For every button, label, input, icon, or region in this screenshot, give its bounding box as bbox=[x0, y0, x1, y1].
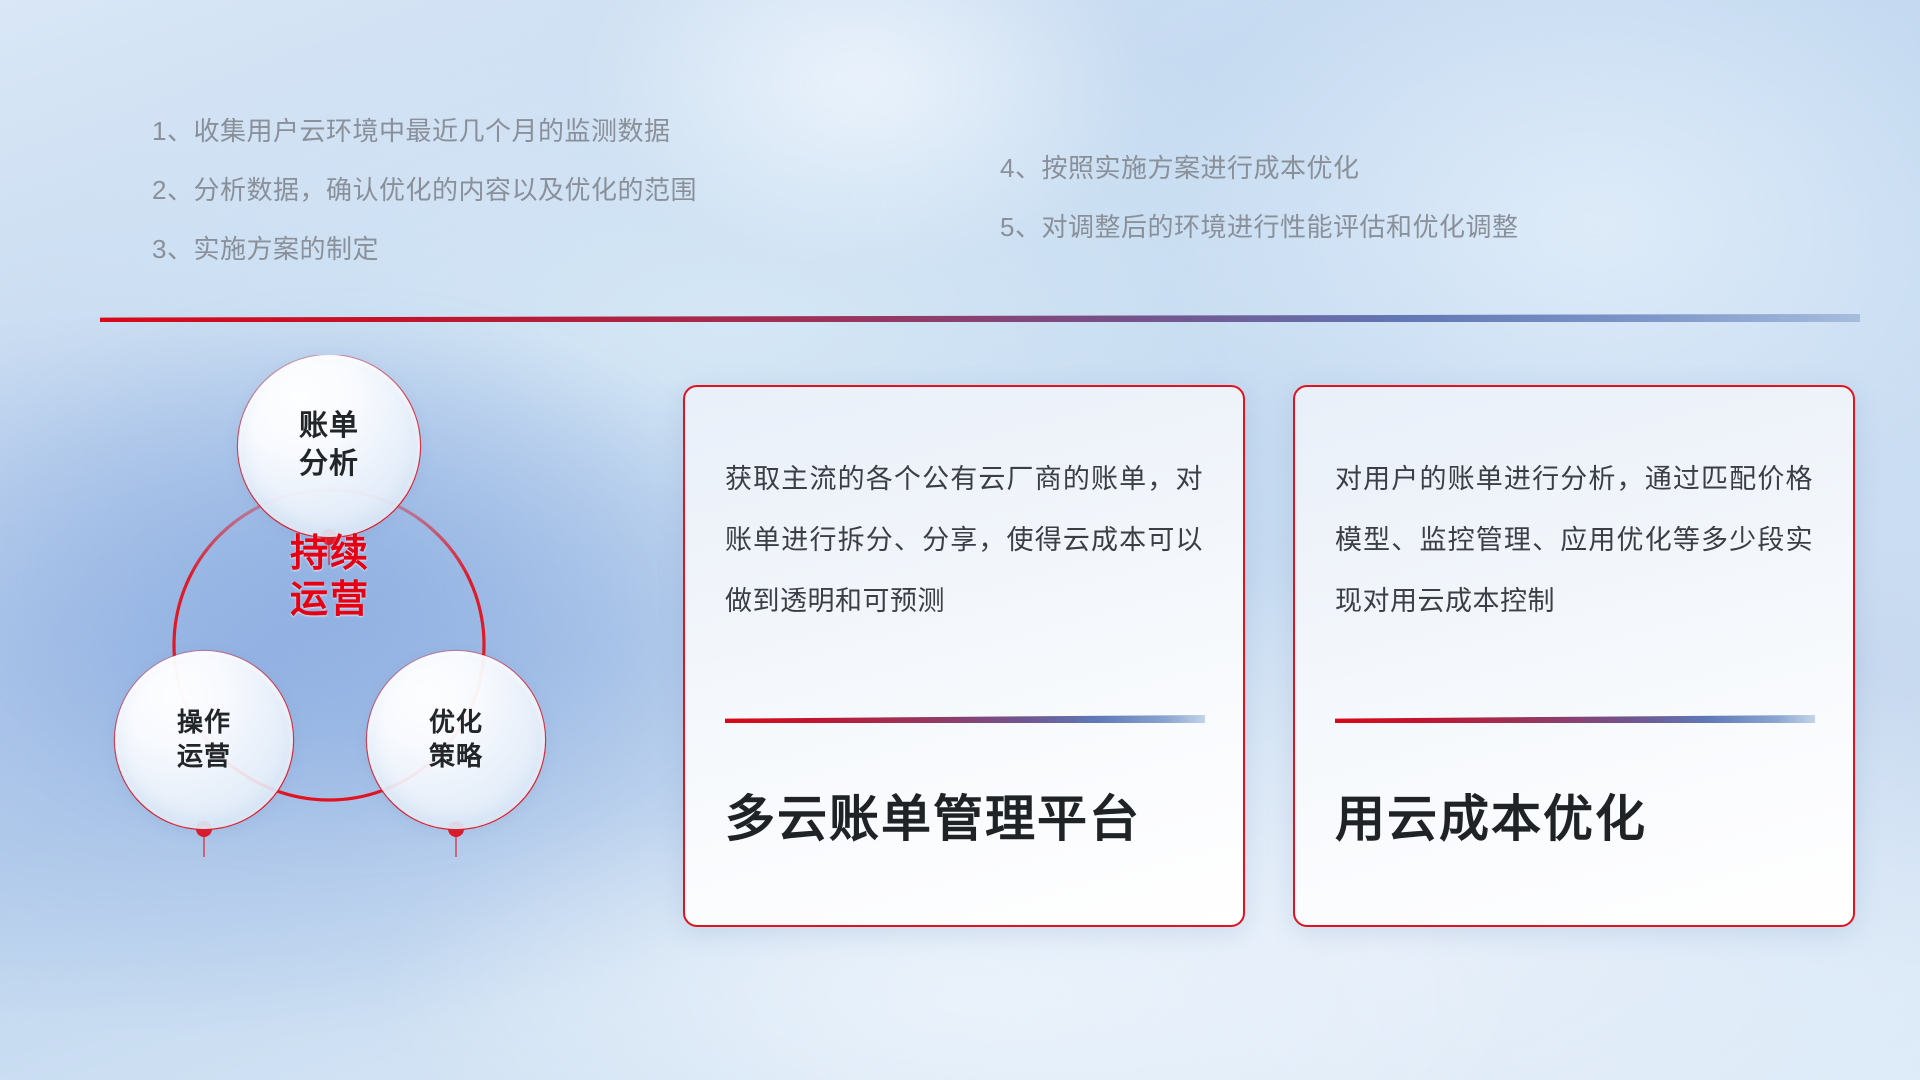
card-title: 多云账单管理平台 bbox=[725, 789, 1203, 849]
card-description: 对用户的账单进行分析，通过匹配价格模型、监控管理、应用优化等多少段实现对用云成本… bbox=[1335, 449, 1813, 697]
diagram-node-label-billing-analysis: 账单分析 bbox=[299, 408, 359, 483]
diagram-center-label: 持续运营 bbox=[250, 531, 410, 624]
card-divider bbox=[725, 715, 1205, 723]
diagram-node-label-optimization-strategy: 优化策略 bbox=[429, 706, 483, 774]
step-item-5: 5、对调整后的环境进行性能评估和优化调整 bbox=[1000, 214, 1518, 240]
diagram-node-operations[interactable]: 操作运营 bbox=[115, 651, 293, 829]
continuous-operations-diagram: 账单分析 操作运营 优化策略 持续运营 bbox=[95, 355, 635, 955]
diagram-node-billing-analysis[interactable]: 账单分析 bbox=[238, 355, 420, 537]
card-divider bbox=[1335, 715, 1815, 723]
feature-card-multi-cloud-billing-platform[interactable]: 获取主流的各个公有云厂商的账单，对账单进行拆分、分享，使得云成本可以做到透明和可… bbox=[683, 385, 1245, 927]
diagram-node-label-operations: 操作运营 bbox=[177, 706, 231, 774]
diagram-node-optimization-strategy[interactable]: 优化策略 bbox=[367, 651, 545, 829]
steps-list-right: 4、按照实施方案进行成本优化 5、对调整后的环境进行性能评估和优化调整 bbox=[1000, 155, 1518, 273]
step-item-4: 4、按照实施方案进行成本优化 bbox=[1000, 155, 1518, 181]
steps-list-left: 1、收集用户云环境中最近几个月的监测数据 2、分析数据，确认优化的内容以及优化的… bbox=[152, 118, 697, 295]
feature-card-cloud-cost-optimization[interactable]: 对用户的账单进行分析，通过匹配价格模型、监控管理、应用优化等多少段实现对用云成本… bbox=[1293, 385, 1855, 927]
card-title: 用云成本优化 bbox=[1335, 789, 1813, 849]
divider-gradient-bar bbox=[100, 314, 1860, 322]
section-divider bbox=[100, 314, 1860, 322]
card-description: 获取主流的各个公有云厂商的账单，对账单进行拆分、分享，使得云成本可以做到透明和可… bbox=[725, 449, 1203, 697]
step-item-2: 2、分析数据，确认优化的内容以及优化的范围 bbox=[152, 177, 697, 203]
step-item-3: 3、实施方案的制定 bbox=[152, 236, 697, 262]
step-item-1: 1、收集用户云环境中最近几个月的监测数据 bbox=[152, 118, 697, 144]
